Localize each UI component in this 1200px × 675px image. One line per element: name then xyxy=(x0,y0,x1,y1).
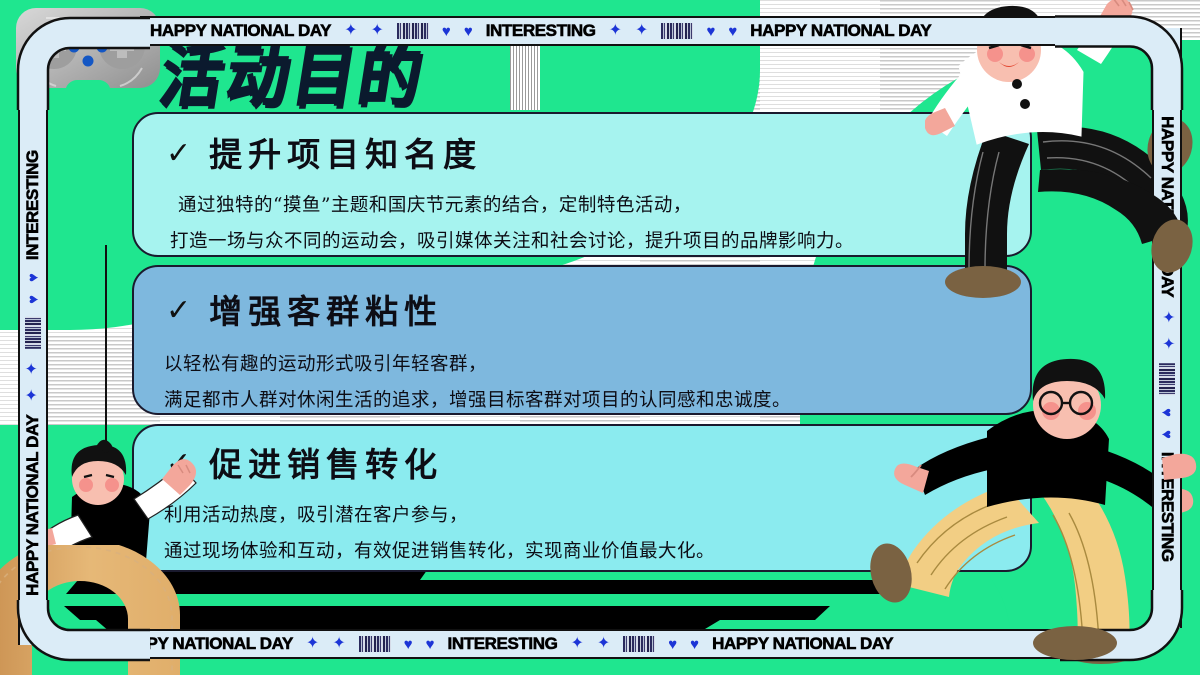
card-title: 促进销售转化 xyxy=(209,438,443,486)
card-header: ✓ 提升项目知名度 xyxy=(134,114,1030,176)
heart-icon: ♥ xyxy=(1160,94,1175,103)
sparkle-icon: ✦ xyxy=(332,636,345,652)
marquee-text: INTERESTING xyxy=(1157,452,1177,562)
marquee-content: ♥ ♥ HAPPY NATIONAL DAY ✦ ✦ ♥ ♥ INTERESTI… xyxy=(118,634,903,654)
marquee-text: HAPPY NATIONAL DAY xyxy=(150,21,331,41)
heart-icon: ♥ xyxy=(426,637,435,652)
illustration-runner-glasses xyxy=(855,355,1200,675)
barcode-icon xyxy=(359,636,391,652)
check-icon: ✓ xyxy=(166,296,191,326)
sparkle-icon: ✦ xyxy=(306,636,319,652)
marquee-ribbon-top: HAPPY NATIONAL DAY ✦ ✦ ♥ ♥ INTERESTING ✦… xyxy=(140,16,1070,46)
heart-icon: ♥ xyxy=(690,637,699,652)
heart-icon: ♥ xyxy=(464,24,473,39)
marquee-text: HAPPY NATIONAL DAY xyxy=(712,634,893,654)
barcode-icon xyxy=(1159,363,1175,395)
card-title: 提升项目知名度 xyxy=(209,128,482,176)
heart-icon: ♥ xyxy=(728,24,737,39)
sparkle-icon: ✦ xyxy=(570,636,583,652)
sparkle-icon: ✦ xyxy=(635,23,648,39)
marquee-text: INTERESTING xyxy=(448,634,558,654)
sparkle-icon: ✦ xyxy=(1159,310,1175,323)
marquee-content: HAPPY NATIONAL DAY ✦ ✦ ♥ ♥ INTERESTING ✦… xyxy=(140,21,941,41)
heart-icon: ♥ xyxy=(668,637,677,652)
barcode-icon xyxy=(397,23,429,39)
sparkle-icon: ✦ xyxy=(344,23,357,39)
sparkle-icon: ✦ xyxy=(597,636,610,652)
sparkle-icon: ✦ xyxy=(1159,337,1175,350)
title-stripe-decor xyxy=(510,44,540,110)
sparkle-icon: ✦ xyxy=(371,23,384,39)
barcode-icon xyxy=(661,23,693,39)
marquee-text: HAPPY NATIONAL DAY xyxy=(118,634,293,654)
card-body-line: 打造一场与众不同的运动会，吸引媒体关注和社会讨论，提升项目的品牌影响力。 xyxy=(170,224,1004,260)
barcode-icon xyxy=(25,316,41,348)
vertical-rule xyxy=(105,245,107,450)
card-body-line: 通过独特的“摸鱼”主题和国庆节元素的结合，定制特色活动， xyxy=(170,188,1004,224)
heart-icon: ♥ xyxy=(442,24,451,39)
sparkle-icon: ✦ xyxy=(25,361,41,374)
marquee-ribbon-left: HAPPY NATIONAL DAY ✦ ✦ ♥ ♥ INTERESTING xyxy=(18,100,48,645)
heart-icon: ♥ xyxy=(706,24,715,39)
heart-icon: ♥ xyxy=(26,294,41,303)
heart-icon: ♥ xyxy=(404,637,413,652)
card-header: ✓ 增强客群粘性 xyxy=(134,267,1030,333)
marquee-text: INTERESTING xyxy=(486,21,596,41)
marquee-ribbon-right: ♥ HAPPY NATIONAL DAY ✦ ✦ ♥ ♥ INTERESTING xyxy=(1152,28,1182,628)
marquee-text: HAPPY NATIONAL DAY xyxy=(23,414,43,595)
heart-icon: ♥ xyxy=(1160,408,1175,417)
sparkle-icon: ✦ xyxy=(25,388,41,401)
heart-icon: ♥ xyxy=(26,273,41,282)
marquee-text: HAPPY NATIONAL DAY xyxy=(750,21,931,41)
marquee-content: ♥ HAPPY NATIONAL DAY ✦ ✦ ♥ ♥ INTERESTING xyxy=(1157,94,1177,562)
marquee-text: HAPPY NATIONAL DAY xyxy=(1157,116,1177,297)
barcode-icon xyxy=(623,636,655,652)
heart-icon: ♥ xyxy=(1160,430,1175,439)
slide-canvas: 活动目的 ✓ 提升项目知名度 通过独特的“摸鱼”主题和国庆节元素的结合，定制特 xyxy=(0,0,1200,675)
sparkle-icon: ✦ xyxy=(609,23,622,39)
objective-card[interactable]: ✓ 提升项目知名度 通过独特的“摸鱼”主题和国庆节元素的结合，定制特色活动， 打… xyxy=(132,112,1032,257)
marquee-ribbon-bottom: ♥ ♥ HAPPY NATIONAL DAY ✦ ✦ ♥ ♥ INTERESTI… xyxy=(118,629,1068,659)
check-icon: ✓ xyxy=(166,139,191,169)
card-body: 通过独特的“摸鱼”主题和国庆节元素的结合，定制特色活动， 打造一场与众不同的运动… xyxy=(134,176,1030,260)
marquee-content: HAPPY NATIONAL DAY ✦ ✦ ♥ ♥ INTERESTING xyxy=(23,150,43,596)
card-title: 增强客群粘性 xyxy=(209,285,443,333)
page-title: 活动目的 xyxy=(154,40,430,114)
marquee-text: INTERESTING xyxy=(23,150,43,260)
